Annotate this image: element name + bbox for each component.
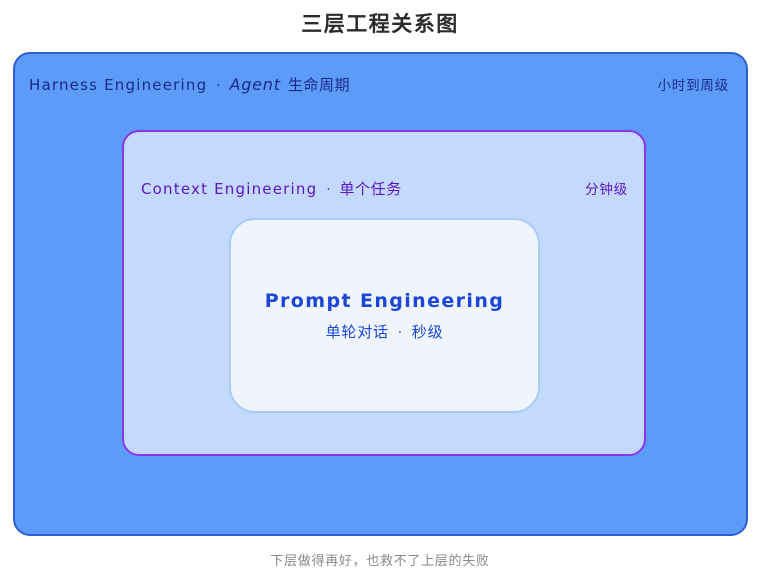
layer-harness-scope: 生命周期 — [281, 74, 350, 95]
layer-context-label: Context Engineering · 单个任务 — [141, 178, 402, 199]
layer-context-header: Context Engineering · 单个任务 分钟级 — [124, 168, 644, 208]
layer-prompt-scope: 单轮对话 — [326, 321, 389, 342]
layer-harness-subject: Agent — [229, 75, 280, 94]
separator-dot: · — [389, 326, 412, 341]
layer-prompt-cadence: 秒级 — [412, 321, 444, 342]
layer-harness-header: Harness Engineering · Agent 生命周期 小时到周级 — [15, 64, 746, 104]
separator-dot: · — [317, 183, 339, 198]
layer-context-name: Context Engineering — [141, 180, 317, 198]
page-title: 三层工程关系图 — [0, 8, 760, 38]
layer-harness-cadence: 小时到周级 — [658, 74, 730, 94]
layer-context-engineering: Context Engineering · 单个任务 分钟级 Prompt En… — [122, 130, 646, 456]
layer-harness-engineering: Harness Engineering · Agent 生命周期 小时到周级 C… — [13, 52, 748, 536]
layer-context-scope: 单个任务 — [339, 178, 401, 199]
layer-harness-name: Harness Engineering — [29, 76, 207, 94]
layer-prompt-meta: 单轮对话 · 秒级 — [326, 321, 444, 342]
layer-prompt-name: Prompt Engineering — [265, 290, 505, 312]
diagram-caption: 下层做得再好，也救不了上层的失败 — [0, 550, 760, 569]
separator-dot: · — [207, 79, 229, 94]
layer-context-cadence: 分钟级 — [585, 178, 628, 198]
layer-harness-label: Harness Engineering · Agent 生命周期 — [29, 74, 350, 95]
layer-prompt-engineering: Prompt Engineering 单轮对话 · 秒级 — [229, 218, 540, 413]
